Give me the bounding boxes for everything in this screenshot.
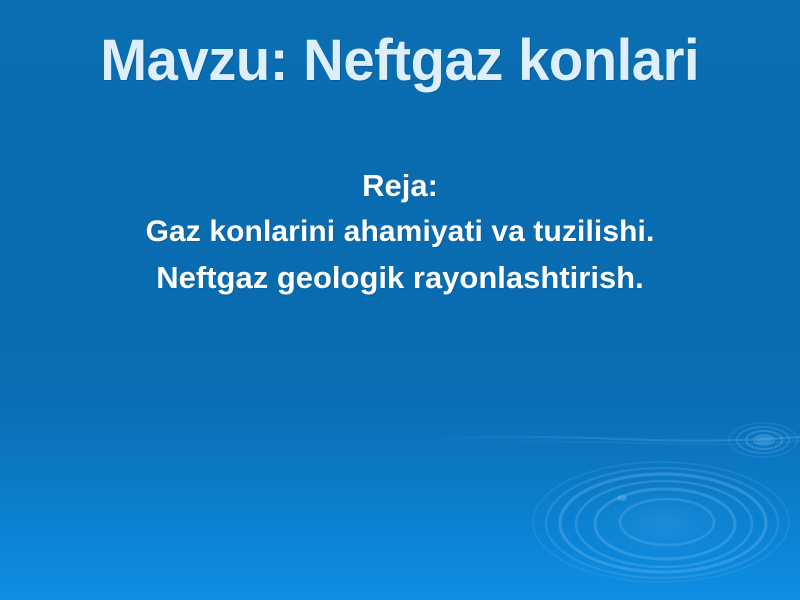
body-line-2: Neftgaz geologik rayonlashtirish. <box>60 255 740 301</box>
slide-title-container: Mavzu: Neftgaz konlari <box>0 30 800 92</box>
slide-title: Mavzu: Neftgaz konlari <box>101 30 700 92</box>
slide-body-container: Reja: Gaz konlarini ahamiyati va tuzilis… <box>60 163 740 301</box>
ripple-rings-large <box>533 462 789 582</box>
ripple-center-glow <box>585 482 745 566</box>
horizon-wave-line-secondary <box>440 441 800 444</box>
body-heading-reja: Reja: <box>60 163 740 209</box>
horizon-wave-line <box>420 437 800 441</box>
ripple-droplet-speck <box>617 495 627 501</box>
ripple-small-center <box>756 436 772 444</box>
slide-canvas: Mavzu: Neftgaz konlari Reja: Gaz konlari… <box>0 0 800 600</box>
body-line-1: Gaz konlarini ahamiyati va tuzilishi. <box>60 209 740 255</box>
ripple-rings-small <box>729 423 797 457</box>
